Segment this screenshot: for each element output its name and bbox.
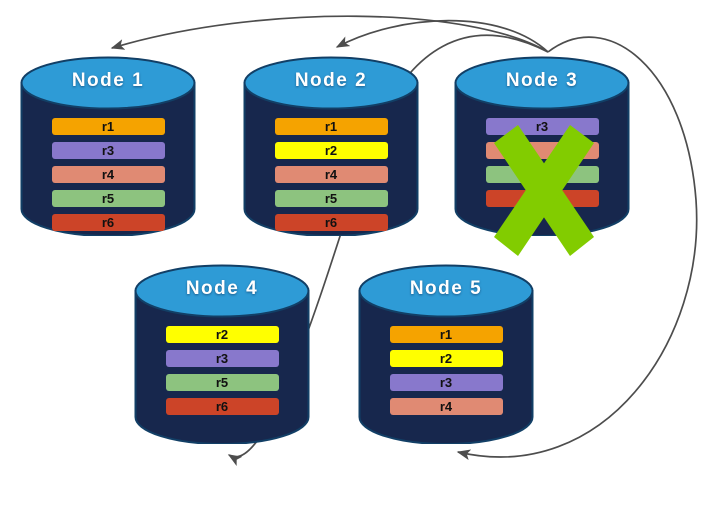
node-4[interactable]: Node 4r2r3r5r6 <box>134 264 310 444</box>
replica-label: r3 <box>390 374 503 390</box>
node-3[interactable]: Node 3r3 <box>454 56 630 236</box>
replica-label <box>486 166 599 167</box>
replica-label: r2 <box>166 326 279 342</box>
replica-bar[interactable] <box>486 166 599 183</box>
replica-label: r3 <box>486 118 599 134</box>
replica-bar[interactable]: r1 <box>275 118 388 135</box>
replica-label: r3 <box>52 142 165 158</box>
replica-bar[interactable]: r5 <box>166 374 279 391</box>
replica-label: r4 <box>275 166 388 182</box>
node-3-label: Node 3 <box>454 70 630 92</box>
replica-bar[interactable] <box>486 142 599 159</box>
node-4-replica-list: r2r3r5r6 <box>134 326 310 415</box>
replica-bar[interactable]: r4 <box>52 166 165 183</box>
replica-label: r5 <box>166 374 279 390</box>
replica-label: r5 <box>275 190 388 206</box>
replica-bar[interactable]: r6 <box>275 214 388 231</box>
arrow-node3-to-node1 <box>112 16 548 52</box>
replica-label <box>486 142 599 143</box>
replica-bar[interactable]: r3 <box>52 142 165 159</box>
replica-label: r1 <box>52 118 165 134</box>
node-5[interactable]: Node 5r1r2r3r4 <box>358 264 534 444</box>
node-5-replica-list: r1r2r3r4 <box>358 326 534 415</box>
replica-bar[interactable]: r4 <box>275 166 388 183</box>
replica-label: r3 <box>166 350 279 366</box>
replica-bar[interactable]: r2 <box>275 142 388 159</box>
replica-label: r4 <box>390 398 503 414</box>
node-4-label: Node 4 <box>134 278 310 300</box>
replica-label: r4 <box>52 166 165 182</box>
arrow-node3-to-node2 <box>337 21 548 52</box>
replica-bar[interactable]: r4 <box>390 398 503 415</box>
replica-label: r1 <box>390 326 503 342</box>
replica-bar[interactable]: r6 <box>52 214 165 231</box>
replica-label: r6 <box>166 398 279 414</box>
replica-bar[interactable]: r1 <box>390 326 503 343</box>
replica-bar[interactable]: r3 <box>390 374 503 391</box>
node-5-label: Node 5 <box>358 278 534 300</box>
replica-label: r2 <box>275 142 388 158</box>
node-1-replica-list: r1r3r4r5r6 <box>20 118 196 231</box>
replica-bar[interactable] <box>486 190 599 207</box>
replica-bar[interactable]: r3 <box>486 118 599 135</box>
replica-label: r2 <box>390 350 503 366</box>
replica-label: r6 <box>275 214 388 230</box>
replica-label: r5 <box>52 190 165 206</box>
node-2[interactable]: Node 2r1r2r4r5r6 <box>243 56 419 236</box>
diagram-canvas: Node 1r1r3r4r5r6Node 2r1r2r4r5r6Node 3r3… <box>0 0 708 508</box>
replica-bar[interactable]: r3 <box>166 350 279 367</box>
replica-label: r6 <box>52 214 165 230</box>
replica-bar[interactable]: r2 <box>390 350 503 367</box>
replica-bar[interactable]: r5 <box>52 190 165 207</box>
node-1-label: Node 1 <box>20 70 196 92</box>
node-1[interactable]: Node 1r1r3r4r5r6 <box>20 56 196 236</box>
node-2-replica-list: r1r2r4r5r6 <box>243 118 419 231</box>
replica-bar[interactable]: r1 <box>52 118 165 135</box>
replica-label <box>486 190 599 191</box>
replica-label: r1 <box>275 118 388 134</box>
replica-bar[interactable]: r6 <box>166 398 279 415</box>
replica-bar[interactable]: r2 <box>166 326 279 343</box>
node-2-label: Node 2 <box>243 70 419 92</box>
replica-bar[interactable]: r5 <box>275 190 388 207</box>
node-3-replica-list: r3 <box>454 118 630 207</box>
